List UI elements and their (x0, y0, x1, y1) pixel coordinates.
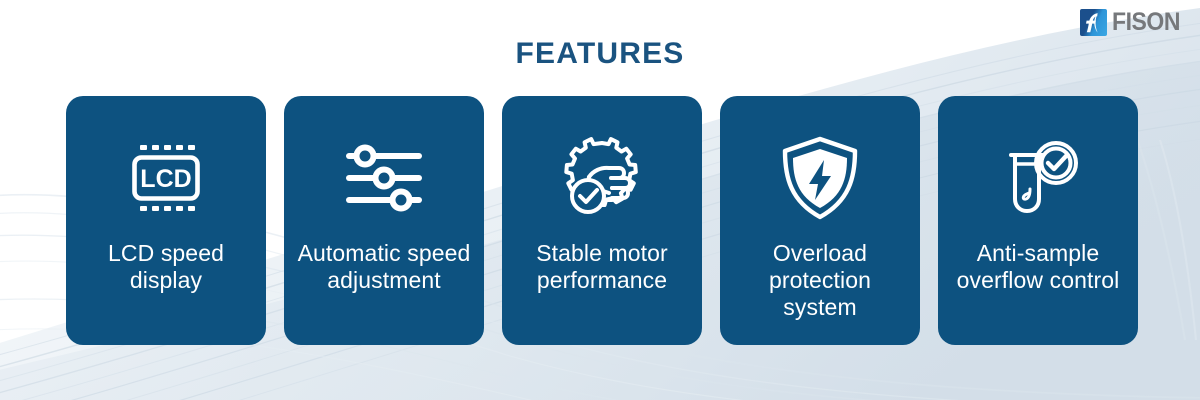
feature-card-label: Automatic speed adjustment (294, 240, 474, 294)
brand-wordmark: FISON (1112, 10, 1180, 35)
feature-card-label: Stable motor performance (512, 240, 692, 294)
slider-controls-icon (341, 130, 427, 226)
page-title: FEATURES (0, 37, 1200, 71)
feature-card-list: LCD LCD speed display (66, 96, 1138, 345)
feature-card-overload-protection-system[interactable]: Overload protection system (720, 96, 920, 345)
feature-card-automatic-speed-adjustment[interactable]: Automatic speed adjustment (284, 96, 484, 345)
fison-f-mark-icon (1080, 9, 1107, 36)
feature-card-label: Anti-sample overflow control (948, 240, 1128, 294)
shield-lightning-icon (778, 130, 862, 226)
feature-card-label: Overload protection system (730, 240, 910, 321)
feature-card-stable-motor-performance[interactable]: Stable motor performance (502, 96, 702, 345)
gear-hand-check-icon (557, 130, 647, 226)
features-banner: FISON FEATURES (0, 0, 1200, 400)
feature-card-label: LCD speed display (76, 240, 256, 294)
svg-text:LCD: LCD (140, 165, 191, 193)
test-tube-check-icon (993, 130, 1083, 226)
feature-card-anti-sample-overflow-control[interactable]: Anti-sample overflow control (938, 96, 1138, 345)
brand-logo[interactable]: FISON (1080, 9, 1186, 36)
lcd-display-icon: LCD (123, 130, 209, 226)
feature-card-lcd-speed-display[interactable]: LCD LCD speed display (66, 96, 266, 345)
